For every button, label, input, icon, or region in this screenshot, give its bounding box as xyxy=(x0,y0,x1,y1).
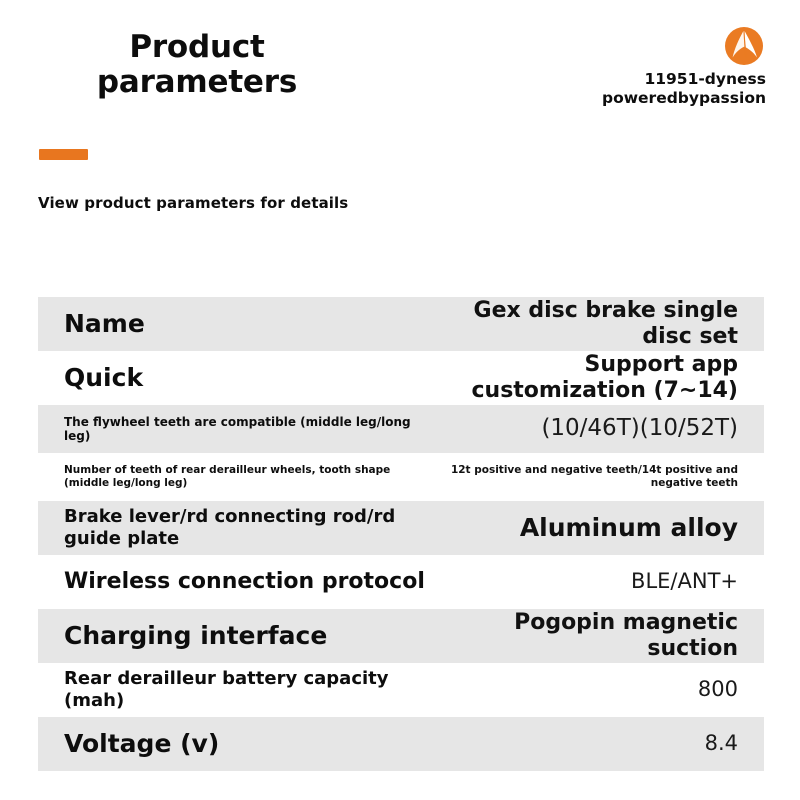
spec-label: Wireless connection protocol xyxy=(64,569,436,595)
spec-label: The flywheel teeth are compatible (middl… xyxy=(64,415,436,444)
spec-value: (10/46T)(10/52T) xyxy=(436,415,738,443)
accent-divider-bar xyxy=(39,149,88,160)
spec-value: 800 xyxy=(436,677,738,702)
spec-label: Voltage (v) xyxy=(64,729,436,759)
spec-value: Gex disc brake single disc set xyxy=(436,298,738,351)
table-row: Brake lever/rd connecting rod/rd guide p… xyxy=(38,501,764,555)
table-row: Charging interface Pogopin magnetic suct… xyxy=(38,609,764,663)
brand-name-line-2: poweredbypassion xyxy=(506,89,766,108)
spec-label: Number of teeth of rear derailleur wheel… xyxy=(64,464,436,489)
spec-value: 12t positive and negative teeth/14t posi… xyxy=(436,464,738,489)
flame-leaf-logo-icon xyxy=(724,26,764,66)
page-subtitle: View product parameters for details xyxy=(38,194,348,212)
spec-value: BLE/ANT+ xyxy=(436,569,738,594)
spec-label: Brake lever/rd connecting rod/rd guide p… xyxy=(64,506,436,549)
table-row: Number of teeth of rear derailleur wheel… xyxy=(38,453,764,501)
spec-label: Name xyxy=(64,309,436,339)
table-row: Rear derailleur battery capacity (mah) 8… xyxy=(38,663,764,717)
table-row: Wireless connection protocol BLE/ANT+ xyxy=(38,555,764,609)
table-row: The flywheel teeth are compatible (middl… xyxy=(38,405,764,453)
page-title-line-1: Product xyxy=(38,30,356,65)
brand-block: 11951-dyness poweredbypassion xyxy=(506,26,766,108)
page-title: Product parameters xyxy=(38,30,356,100)
table-row: Voltage (v) 8.4 xyxy=(38,717,764,771)
page-title-line-2: parameters xyxy=(38,65,356,100)
table-row: Quick Support app customization (7~14) xyxy=(38,351,764,405)
spec-value: Support app customization (7~14) xyxy=(436,352,738,405)
brand-name-line-1: 11951-dyness xyxy=(506,70,766,89)
spec-value: Aluminum alloy xyxy=(436,513,738,543)
spec-value: Pogopin magnetic suction xyxy=(436,610,738,663)
spec-value: 8.4 xyxy=(436,731,738,756)
spec-table: Name Gex disc brake single disc set Quic… xyxy=(38,297,764,771)
brand-name: 11951-dyness poweredbypassion xyxy=(506,70,766,108)
page-header: Product parameters 11951-dyness poweredb… xyxy=(0,0,800,240)
table-row: Name Gex disc brake single disc set xyxy=(38,297,764,351)
spec-label: Charging interface xyxy=(64,621,436,651)
product-parameters-page: Product parameters 11951-dyness poweredb… xyxy=(0,0,800,800)
spec-label: Rear derailleur battery capacity (mah) xyxy=(64,668,436,711)
spec-label: Quick xyxy=(64,363,436,393)
